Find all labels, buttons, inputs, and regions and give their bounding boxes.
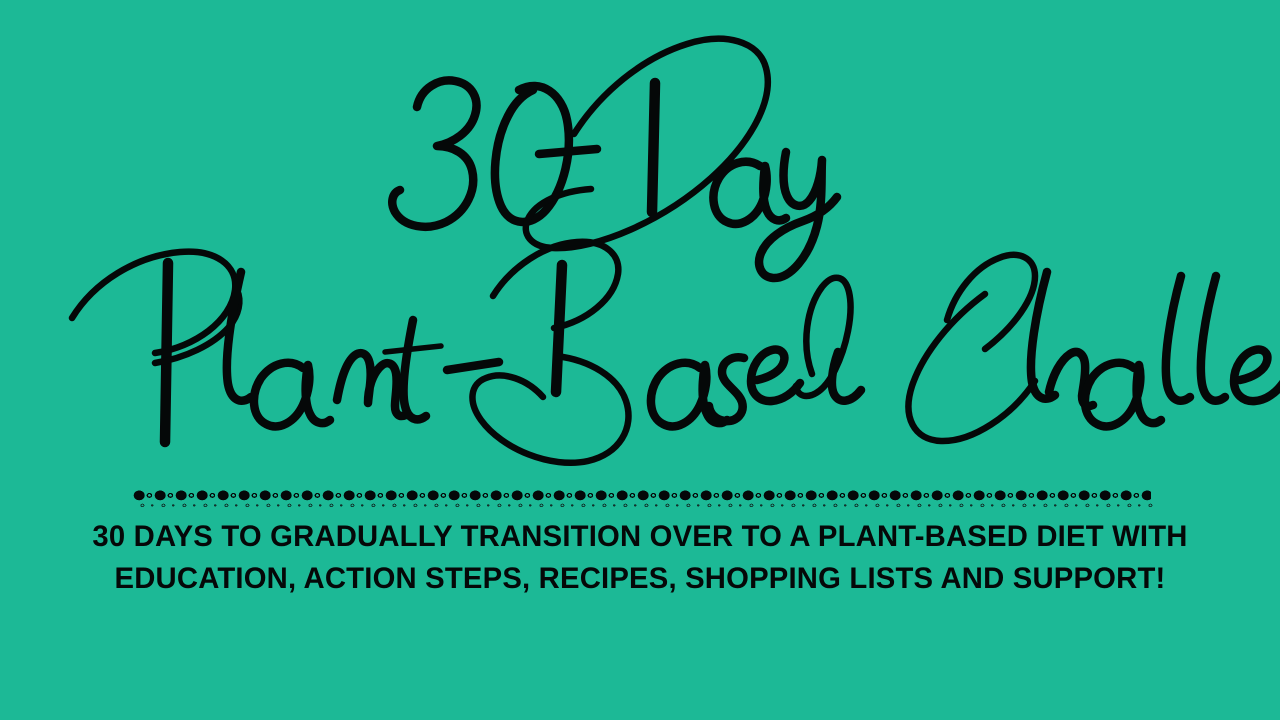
- divider-row-primary: [133, 489, 1151, 502]
- headline-script: [0, 0, 1280, 480]
- headline-line2: [72, 242, 1280, 463]
- headline-svg: [0, 0, 1280, 480]
- subtitle: 30 DAYS TO GRADUALLY TRANSITION OVER TO …: [0, 516, 1280, 600]
- subtitle-line-1: 30 DAYS TO GRADUALLY TRANSITION OVER TO …: [16, 516, 1264, 558]
- headline-line1: [392, 39, 837, 278]
- subtitle-line-2: EDUCATION, ACTION STEPS, RECIPES, SHOPPI…: [16, 558, 1264, 600]
- dotted-divider: [133, 489, 1151, 509]
- divider-row-secondary: [137, 502, 1155, 509]
- promotional-poster: 30 DAYS TO GRADUALLY TRANSITION OVER TO …: [0, 0, 1280, 720]
